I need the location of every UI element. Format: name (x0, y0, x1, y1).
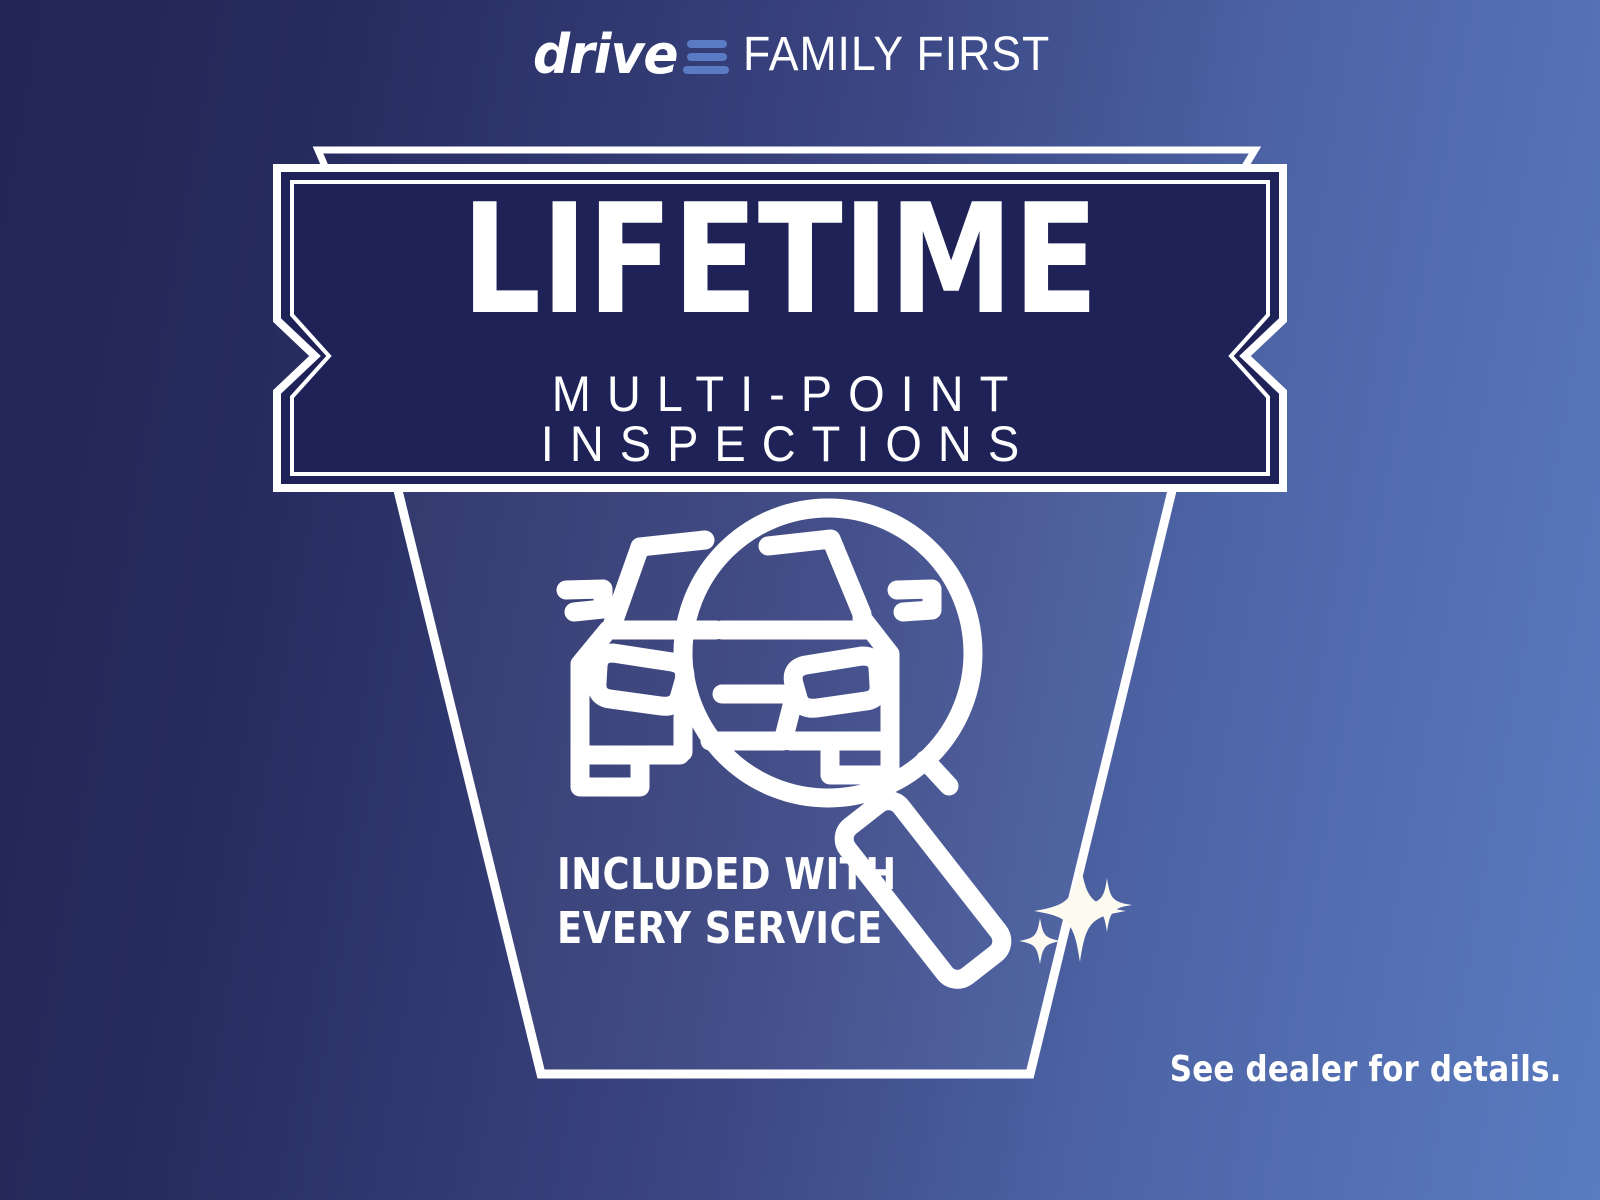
logo-bar-2 (687, 53, 727, 61)
promotional-graphic: drive FAMILY FIRST LIFETIME MULTI-POINT … (0, 0, 1600, 1200)
offer-body-line-1: INCLUDED WITH (557, 849, 897, 900)
three-bars-icon (687, 40, 729, 74)
offer-body-text: INCLUDED WITH EVERY SERVICE (557, 848, 897, 955)
trapezoid-panel (393, 470, 1177, 1074)
ribbon-shape (277, 168, 1283, 488)
ribbon-banner (277, 168, 1283, 488)
brand-wordmark: drive (533, 28, 678, 82)
artwork-canvas (0, 0, 1600, 1200)
logo-bar-3 (683, 66, 729, 74)
offer-body-line-2: EVERY SERVICE (557, 903, 883, 954)
disclaimer-text: See dealer for details. (1170, 1052, 1562, 1088)
trapezoid-outline (393, 470, 1177, 1074)
logo-bar-1 (687, 40, 727, 48)
brand-logo-lockup: drive FAMILY FIRST (0, 28, 1600, 82)
brand-tagline: FAMILY FIRST (743, 31, 1050, 79)
